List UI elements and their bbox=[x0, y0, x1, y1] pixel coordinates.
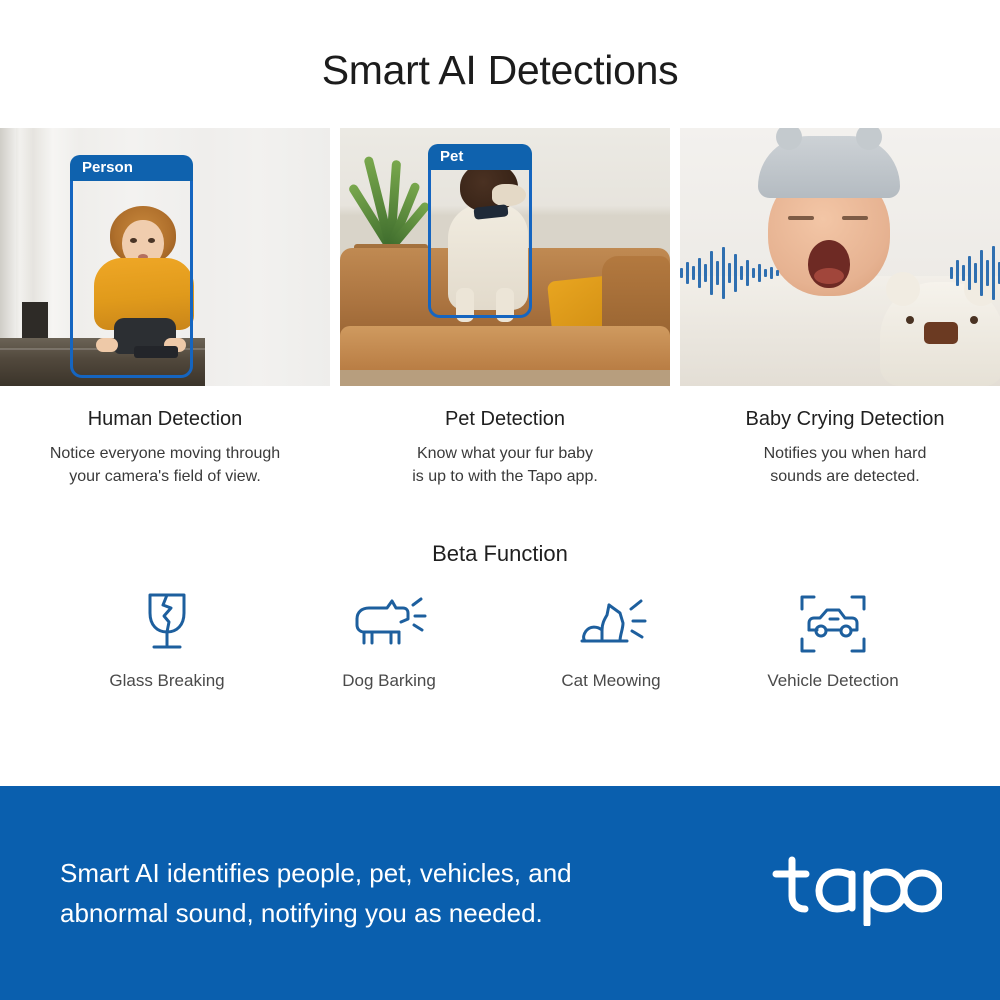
pet-detection-title: Pet Detection bbox=[445, 408, 565, 431]
baseboard-decoration bbox=[22, 302, 48, 338]
beta-item-glass-breaking[interactable]: Glass Breaking bbox=[56, 589, 278, 691]
feature-card-pet-detection: Pet Pet Detection Know what your fur bab… bbox=[340, 128, 670, 488]
feature-card-human-detection: Person Human Detection Notice everyone m… bbox=[0, 128, 330, 488]
baby-crying-description-line1: Notifies you when hard bbox=[764, 445, 927, 462]
beta-label-vehicle-detection: Vehicle Detection bbox=[767, 671, 898, 691]
feature-card-baby-crying-detection: Baby Crying Detection Notifies you when … bbox=[680, 128, 1000, 488]
page-title: Smart AI Detections bbox=[0, 0, 1000, 95]
human-detection-description: Notice everyone moving through your came… bbox=[50, 442, 280, 488]
feature-cards-row: Person Human Detection Notice everyone m… bbox=[0, 128, 1000, 488]
person-detection-label: Person bbox=[70, 155, 193, 181]
cat-meowing-icon bbox=[573, 589, 649, 655]
houseplant-decoration bbox=[346, 136, 438, 248]
beta-function-row: Glass Breaking Dog Barking Cat Meowing bbox=[0, 589, 1000, 691]
human-detection-title: Human Detection bbox=[88, 408, 243, 431]
baby-crying-detection-description: Notifies you when hard sounds are detect… bbox=[764, 442, 927, 488]
teddy-eye-right bbox=[970, 316, 978, 324]
beanie-pom-right bbox=[856, 128, 882, 150]
audio-waveform-icon bbox=[680, 240, 1000, 306]
beta-label-cat-meowing: Cat Meowing bbox=[561, 671, 660, 691]
banner-text: Smart AI identifies people, pet, vehicle… bbox=[60, 853, 572, 934]
pet-detection-description-line2: is up to with the Tapo app. bbox=[412, 468, 598, 485]
tapo-logo bbox=[766, 856, 942, 931]
rug-decoration bbox=[340, 370, 670, 386]
baby-beanie bbox=[758, 136, 900, 198]
teddy-eye-left bbox=[906, 316, 914, 324]
broken-glass-icon bbox=[136, 589, 198, 655]
baby-eye-right bbox=[842, 216, 868, 220]
beta-label-glass-breaking: Glass Breaking bbox=[109, 671, 224, 691]
beta-item-vehicle-detection[interactable]: Vehicle Detection bbox=[722, 589, 944, 691]
baby-crying-description-line2: sounds are detected. bbox=[770, 468, 919, 485]
teddy-nose bbox=[924, 322, 958, 344]
person-detection-box: Person bbox=[70, 155, 193, 378]
footer-banner: Smart AI identifies people, pet, vehicle… bbox=[0, 786, 1000, 1000]
baby-crying-detection-title: Baby Crying Detection bbox=[746, 408, 945, 431]
pet-detection-box: Pet bbox=[428, 144, 532, 318]
vehicle-detection-icon bbox=[798, 589, 868, 655]
pet-detection-description: Know what your fur baby is up to with th… bbox=[412, 442, 598, 488]
pet-detection-photo: Pet bbox=[340, 128, 670, 386]
beta-item-dog-barking[interactable]: Dog Barking bbox=[278, 589, 500, 691]
beta-function-heading: Beta Function bbox=[0, 541, 1000, 567]
baby-crying-detection-photo bbox=[680, 128, 1000, 386]
baby-eye-left bbox=[788, 216, 814, 220]
beanie-pom-left bbox=[776, 128, 802, 150]
beta-item-cat-meowing[interactable]: Cat Meowing bbox=[500, 589, 722, 691]
human-detection-description-line2: your camera's field of view. bbox=[69, 468, 261, 485]
pet-detection-label: Pet bbox=[428, 144, 532, 170]
dog-barking-icon bbox=[351, 589, 427, 655]
sofa-seat bbox=[340, 326, 670, 372]
banner-text-line1: Smart AI identifies people, pet, vehicle… bbox=[60, 858, 572, 888]
pet-detection-description-line1: Know what your fur baby bbox=[417, 445, 593, 462]
beta-label-dog-barking: Dog Barking bbox=[342, 671, 436, 691]
human-detection-description-line1: Notice everyone moving through bbox=[50, 445, 280, 462]
human-detection-photo: Person bbox=[0, 128, 330, 386]
banner-text-line2: abnormal sound, notifying you as needed. bbox=[60, 898, 543, 928]
